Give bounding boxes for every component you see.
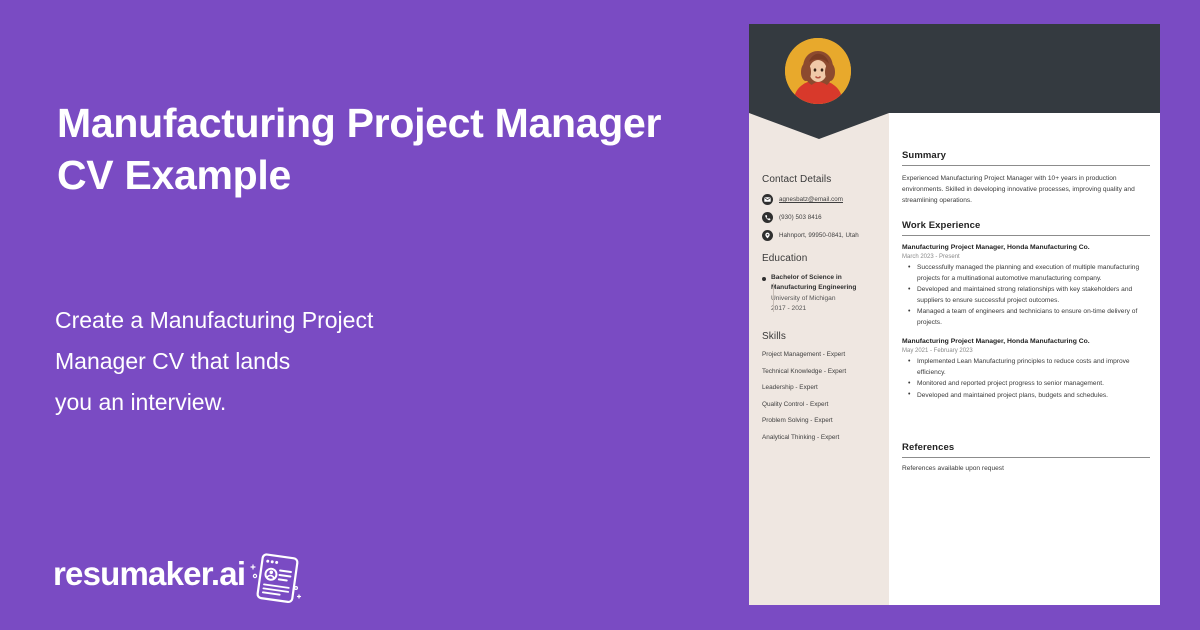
job-bullet: Managed a team of engineers and technici… <box>902 307 1150 328</box>
promo-panel: Manufacturing Project Manager CV Example… <box>0 0 750 630</box>
education-school: University of Michigan <box>771 294 875 304</box>
job-entry: Manufacturing Project Manager, Honda Man… <box>902 337 1150 401</box>
contact-location-value: Hahnport, 99950-0841, Utah <box>779 232 859 239</box>
job-dates: March 2023 - Present <box>902 254 1150 260</box>
skills-heading: Skills <box>762 331 884 342</box>
work-experience-heading: Work Experience <box>902 220 1150 236</box>
envelope-icon <box>762 194 773 205</box>
job-bullet-list: Implemented Lean Manufacturing principle… <box>902 357 1150 401</box>
education-section: Education Bachelor of Science in Manufac… <box>762 253 884 314</box>
contact-email-row[interactable]: agnesbatz@email.com <box>762 194 884 205</box>
page-subtitle-line-1: Create a Manufacturing Project <box>55 300 525 341</box>
page-subtitle: Create a Manufacturing Project Manager C… <box>55 300 525 423</box>
contact-phone-row[interactable]: (930) 503 8416 <box>762 212 884 223</box>
references-section: References References available upon req… <box>902 442 1150 472</box>
summary-text: Experienced Manufacturing Project Manage… <box>902 173 1150 206</box>
phone-icon <box>762 212 773 223</box>
job-dates: May 2021 - February 2023 <box>902 348 1150 354</box>
contact-phone-value: (930) 503 8416 <box>779 214 822 221</box>
page-title-line-1: Manufacturing Project Manager <box>57 97 697 149</box>
skill-item: Analytical Thinking - Expert <box>762 434 884 441</box>
references-text: References available upon request <box>902 465 1150 472</box>
job-bullet: Developed and maintained strong relation… <box>902 285 1150 306</box>
job-bullet-list: Successfully managed the planning and ex… <box>902 263 1150 328</box>
job-bullet: Implemented Lean Manufacturing principle… <box>902 357 1150 378</box>
page-title: Manufacturing Project Manager CV Example <box>57 97 697 201</box>
job-entry: Manufacturing Project Manager, Honda Man… <box>902 243 1150 328</box>
summary-heading: Summary <box>902 150 1150 166</box>
education-item: Bachelor of Science in Manufacturing Eng… <box>762 273 884 314</box>
page-title-line-2: CV Example <box>57 149 697 201</box>
skill-item: Problem Solving - Expert <box>762 417 884 424</box>
education-degree: Bachelor of Science in Manufacturing Eng… <box>771 273 875 292</box>
job-bullet: Developed and maintained project plans, … <box>902 391 1150 402</box>
contact-details-heading: Contact Details <box>762 174 884 185</box>
avatar <box>785 38 851 104</box>
cv-preview-card[interactable]: Agnes Batz Manufacturing Project Manager… <box>749 24 1160 605</box>
job-bullet: Monitored and reported project progress … <box>902 379 1150 390</box>
resumaker-logo[interactable]: resumaker.ai <box>53 550 306 590</box>
logo-text: resumaker.ai <box>53 557 245 590</box>
summary-section: Summary Experienced Manufacturing Projec… <box>902 150 1150 206</box>
contact-location-row[interactable]: Hahnport, 99950-0841, Utah <box>762 230 884 241</box>
timeline-divider <box>773 283 774 312</box>
job-title: Manufacturing Project Manager, Honda Man… <box>902 337 1150 347</box>
bullet-icon <box>762 277 766 281</box>
education-years: 2017 - 2021 <box>771 304 875 314</box>
location-pin-icon <box>762 230 773 241</box>
job-bullet: Successfully managed the planning and ex… <box>902 263 1150 284</box>
education-heading: Education <box>762 253 884 264</box>
contact-email-value: agnesbatz@email.com <box>779 196 843 203</box>
references-heading: References <box>902 442 1150 458</box>
skills-section: Skills Project Management - Expert Techn… <box>762 331 884 450</box>
skill-item: Quality Control - Expert <box>762 401 884 408</box>
skill-item: Project Management - Expert <box>762 351 884 358</box>
education-item-body: Bachelor of Science in Manufacturing Eng… <box>771 273 875 314</box>
page-subtitle-line-2: Manager CV that lands <box>55 341 525 382</box>
work-experience-section: Work Experience Manufacturing Project Ma… <box>902 220 1150 402</box>
resume-document-icon <box>246 550 306 606</box>
skill-item: Leadership - Expert <box>762 384 884 391</box>
page-subtitle-line-3: you an interview. <box>55 382 525 423</box>
contact-details-section: Contact Details agnesbatz@email.com (930… <box>762 174 884 248</box>
job-title: Manufacturing Project Manager, Honda Man… <box>902 243 1150 253</box>
skill-item: Technical Knowledge - Expert <box>762 368 884 375</box>
